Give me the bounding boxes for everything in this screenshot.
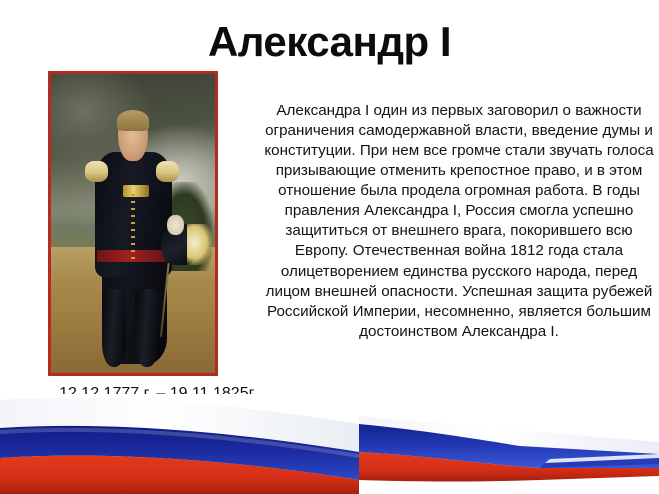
presentation-slide: Александр I 12.12.1777 г. – 19.11.1825г.	[0, 0, 659, 494]
portrait-glove	[167, 215, 183, 236]
portrait-image	[48, 71, 218, 376]
portrait-medals	[123, 185, 149, 197]
portrait-hair	[117, 110, 150, 131]
russian-flag-ribbon	[0, 394, 659, 494]
body-paragraph: Александра I один из первых заговорил о …	[262, 101, 656, 342]
portrait-artwork	[51, 74, 215, 373]
portrait-buttons	[131, 194, 135, 263]
portrait-plume	[187, 224, 212, 266]
portrait-epaulette-left	[85, 161, 108, 182]
portrait-epaulette-right	[156, 161, 179, 182]
portrait-boot-left	[102, 289, 127, 367]
page-title: Александр I	[0, 20, 659, 64]
portrait-boot-right	[135, 289, 160, 367]
